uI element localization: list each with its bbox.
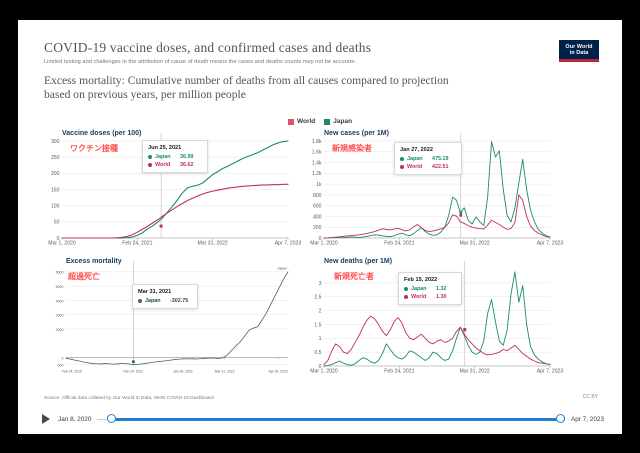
svg-text:50: 50 (54, 220, 60, 226)
panel-excess-mortality: Excess mortality 超過死亡 600050004000300020… (40, 258, 290, 380)
legend-swatch-japan (324, 119, 330, 125)
source-note: Source: Official data collated by Our Wo… (44, 396, 214, 401)
tooltip-name-world: World (155, 162, 177, 168)
svg-text:4000: 4000 (56, 299, 64, 303)
tooltip-row-japan: Japan 36.99 (148, 154, 201, 160)
tooltip-date: Jun 25, 2021 (148, 145, 201, 151)
svg-text:Jan 30, 2022: Jan 30, 2022 (173, 369, 193, 373)
tooltip-row-japan: Japan 1.32 (404, 286, 455, 292)
tooltip-name-world: World (407, 164, 429, 170)
tooltip-name-world: World (411, 294, 433, 300)
owid-grapher-page: COVID-19 vaccine doses, and confirmed ca… (18, 20, 622, 434)
timeline-track-active (109, 418, 565, 421)
svg-text:Feb 24, 2021: Feb 24, 2021 (123, 369, 143, 373)
tooltip-value-world: 1.30 (436, 294, 447, 300)
svg-text:Apr 7, 2023: Apr 7, 2023 (537, 240, 564, 246)
svg-text:3: 3 (319, 281, 322, 287)
page-subtitle: Limited testing and challenges in the at… (44, 59, 514, 65)
svg-text:0: 0 (319, 236, 322, 242)
svg-text:200: 200 (51, 171, 60, 177)
tooltip-excess-mortality: Mar 31, 2021 Japan -302.75 (132, 284, 198, 309)
svg-text:3000: 3000 (56, 314, 64, 318)
svg-text:2000: 2000 (56, 328, 64, 332)
svg-text:Mar 1, 2020: Mar 1, 2020 (48, 240, 76, 246)
tooltip-value-japan: -302.75 (170, 298, 188, 304)
tooltip-new-cases: Jan 27, 2022 Japan 475.19 World 422.51 (394, 142, 462, 175)
svg-text:300: 300 (51, 139, 60, 145)
tooltip-value-world: 36.62 (180, 162, 194, 168)
svg-text:100: 100 (51, 204, 60, 210)
tooltip-dot-world (404, 295, 408, 299)
svg-text:Mar 31, 2022: Mar 31, 2022 (460, 240, 490, 246)
tooltip-row-world: World 1.30 (404, 294, 455, 300)
svg-text:Apr 7, 2023: Apr 7, 2023 (537, 368, 564, 374)
svg-text:150: 150 (51, 187, 60, 193)
svg-text:0.5: 0.5 (314, 350, 321, 356)
svg-text:Mar 31, 2022: Mar 31, 2022 (215, 369, 235, 373)
chart-title-new-cases: New cases (per 1M) (324, 130, 389, 137)
timeline-track[interactable] (97, 418, 565, 421)
license-label: CC BY (583, 394, 598, 400)
panel-new-cases: New cases (per 1M) 新規感染者 02004006008001k… (302, 130, 552, 252)
tooltip-date: Feb 15, 2022 (404, 277, 455, 283)
svg-text:200: 200 (313, 225, 322, 231)
tooltip-name-japan: Japan (407, 156, 429, 162)
secondary-title: Excess mortality: Cumulative number of d… (44, 74, 474, 101)
svg-text:1.4k: 1.4k (312, 160, 322, 166)
tooltip-dot-japan (404, 287, 408, 291)
tooltip-value-world: 422.51 (432, 164, 449, 170)
svg-text:Apr 30, 2023: Apr 30, 2023 (268, 369, 287, 373)
svg-text:400: 400 (313, 214, 322, 220)
svg-text:250: 250 (51, 155, 60, 161)
svg-text:6000: 6000 (56, 271, 64, 275)
panel-new-deaths: New deaths (per 1M) 新規死亡者 00.511.522.53M… (302, 258, 552, 380)
svg-text:Feb 24, 2021: Feb 24, 2021 (384, 368, 414, 374)
tooltip-vaccine-doses: Jun 25, 2021 Japan 36.99 World 36.62 (142, 140, 208, 173)
chart-title-new-deaths: New deaths (per 1M) (324, 258, 392, 265)
svg-text:Mar 31, 2022: Mar 31, 2022 (460, 368, 490, 374)
timeline-handle-end[interactable] (556, 414, 565, 423)
svg-text:800: 800 (313, 193, 322, 199)
svg-text:600: 600 (313, 204, 322, 210)
timeline-control[interactable]: Jan 8, 2020 Apr 7, 2023 (42, 410, 604, 428)
timeline-end-date: Apr 7, 2023 (571, 416, 604, 423)
svg-text:1.2k: 1.2k (312, 171, 322, 177)
tooltip-row-japan: Japan 475.19 (400, 156, 455, 162)
tooltip-dot-japan (138, 299, 142, 303)
svg-text:0: 0 (62, 356, 64, 360)
svg-text:Feb 24, 2020: Feb 24, 2020 (62, 369, 82, 373)
legend: World Japan (18, 118, 622, 125)
svg-text:Mar 1, 2020: Mar 1, 2020 (310, 368, 338, 374)
tooltip-value-japan: 1.32 (436, 286, 447, 292)
page-title: COVID-19 vaccine doses, and confirmed ca… (44, 40, 514, 56)
logo-line-2: in Data (559, 50, 599, 56)
panel-vaccine-doses: Vaccine doses (per 100) ワクチン接種 050100150… (40, 130, 290, 252)
tooltip-value-japan: 36.99 (180, 154, 194, 160)
svg-text:2.5: 2.5 (314, 295, 321, 301)
legend-item-japan[interactable]: Japan (324, 118, 352, 125)
play-icon[interactable] (42, 414, 50, 424)
tooltip-dot-world (148, 163, 152, 167)
svg-text:5000: 5000 (56, 285, 64, 289)
svg-text:0: 0 (319, 364, 322, 370)
svg-text:2: 2 (319, 308, 322, 314)
svg-text:1: 1 (319, 336, 322, 342)
tooltip-date: Jan 27, 2022 (400, 147, 455, 153)
charts-grid: Vaccine doses (per 100) ワクチン接種 050100150… (40, 130, 560, 388)
svg-text:-500: -500 (56, 363, 63, 367)
chart-title-excess-mortality: Excess mortality (66, 258, 122, 265)
svg-text:Feb 24, 2021: Feb 24, 2021 (384, 240, 414, 246)
tooltip-dot-world (400, 165, 404, 169)
screen-root: COVID-19 vaccine doses, and confirmed ca… (0, 0, 640, 453)
tooltip-row-world: World 36.62 (148, 162, 201, 168)
legend-item-world[interactable]: World (288, 118, 315, 125)
svg-text:1.5: 1.5 (314, 322, 321, 328)
tooltip-dot-japan (400, 157, 404, 161)
tooltip-row-japan: Japan -302.75 (138, 298, 191, 304)
tooltip-new-deaths: Feb 15, 2022 Japan 1.32 World 1.30 (398, 272, 462, 305)
header: COVID-19 vaccine doses, and confirmed ca… (44, 40, 514, 101)
legend-swatch-world (288, 119, 294, 125)
svg-text:0: 0 (57, 236, 60, 242)
svg-text:1.6k: 1.6k (312, 150, 322, 156)
svg-text:1k: 1k (316, 182, 322, 188)
timeline-handle-start[interactable] (107, 414, 116, 423)
tooltip-date: Mar 31, 2021 (138, 289, 191, 295)
svg-text:Feb 24, 2021: Feb 24, 2021 (122, 240, 152, 246)
chart-title-vaccine-doses: Vaccine doses (per 100) (62, 130, 141, 137)
tooltip-row-world: World 422.51 (400, 164, 455, 170)
tooltip-name-japan: Japan (411, 286, 433, 292)
legend-label-japan: Japan (333, 118, 352, 125)
timeline-start-date: Jan 8, 2020 (58, 416, 91, 423)
svg-text:Apr 7, 2023: Apr 7, 2023 (275, 240, 302, 246)
svg-text:Mar 1, 2020: Mar 1, 2020 (310, 240, 338, 246)
svg-text:Mar 31, 2022: Mar 31, 2022 (198, 240, 228, 246)
tooltip-name-japan: Japan (155, 154, 177, 160)
tooltip-dot-japan (148, 155, 152, 159)
legend-label-world: World (297, 118, 315, 125)
tooltip-name-japan: Japan (145, 298, 167, 304)
tooltip-value-japan: 475.19 (432, 156, 449, 162)
owid-logo[interactable]: Our World in Data (559, 40, 599, 62)
svg-text:1.8k: 1.8k (312, 139, 322, 145)
